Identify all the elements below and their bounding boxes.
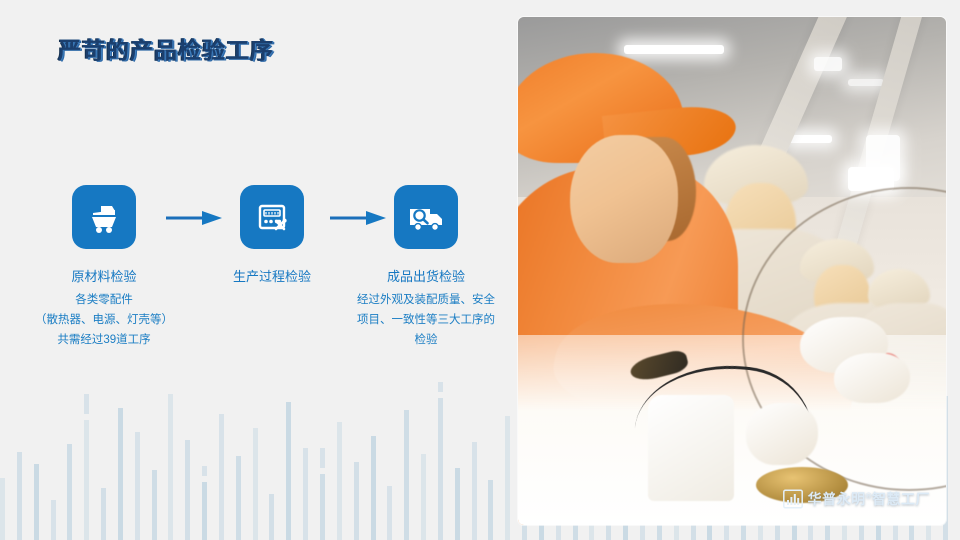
decorative-bar bbox=[67, 444, 72, 540]
page-title: 严苛的产品检验工序 bbox=[58, 31, 274, 65]
factory-photo-scene bbox=[518, 17, 946, 525]
step-body-raw-material: 各类零配件 （散热器、电源、灯壳等） 共需经过39道工序 bbox=[14, 290, 194, 350]
decorative-bar bbox=[101, 488, 106, 540]
step-label-raw-material: 原材料检验 bbox=[56, 266, 152, 285]
gloved-hand bbox=[746, 403, 818, 465]
arrow-right-icon bbox=[330, 211, 386, 225]
decorative-bar bbox=[202, 482, 207, 540]
decorative-bar bbox=[51, 500, 56, 540]
decorative-bar-segment bbox=[202, 466, 207, 476]
decorative-bar bbox=[387, 486, 392, 540]
decorative-bar bbox=[421, 454, 426, 540]
decorative-bar bbox=[34, 464, 39, 540]
material-cart-icon[interactable] bbox=[72, 185, 136, 249]
foreground-worker-face bbox=[570, 135, 678, 263]
watermark-text: 华普永明®智慧工厂 bbox=[808, 489, 930, 509]
process-flow-icons bbox=[0, 185, 500, 257]
step-body-line: 检验 bbox=[331, 330, 521, 350]
decorative-bar bbox=[286, 402, 291, 540]
machine-tools-icon[interactable] bbox=[240, 185, 304, 249]
step-body-line: 经过外观及装配质量、安全 bbox=[331, 290, 521, 310]
brand-watermark: 华普永明®智慧工厂 bbox=[783, 489, 930, 509]
decorative-bar bbox=[17, 452, 22, 540]
decorative-bar bbox=[269, 494, 274, 540]
truck-inspect-icon[interactable] bbox=[394, 185, 458, 249]
decorative-bar bbox=[84, 420, 89, 540]
decorative-bar bbox=[0, 478, 5, 540]
step-body-line: 共需经过39道工序 bbox=[14, 330, 194, 350]
decorative-bar bbox=[303, 448, 308, 540]
decorative-bar bbox=[236, 456, 241, 540]
decorative-bar bbox=[472, 442, 477, 540]
huapu-yongming-logo-icon bbox=[783, 489, 803, 509]
gloved-hand bbox=[834, 353, 910, 403]
process-flow: 原材料检验 生产过程检验 成品出货检验 各类零配件 （散热器、电源、灯壳等） 共… bbox=[0, 185, 500, 257]
watermark-suffix: 智慧工厂 bbox=[872, 491, 930, 507]
step-body-shipment: 经过外观及装配质量、安全 项目、一致性等三大工序的 检验 bbox=[331, 290, 521, 350]
decorative-bar bbox=[118, 408, 123, 540]
decorative-bar bbox=[219, 414, 224, 540]
decorative-bar-segment bbox=[320, 448, 325, 468]
decorative-bar bbox=[135, 432, 140, 540]
slide-canvas: 严苛的产品检验工序 bbox=[0, 0, 960, 540]
ceiling-light-icon bbox=[814, 57, 842, 71]
decorative-bar-segment bbox=[438, 382, 443, 392]
decorative-bar bbox=[505, 416, 510, 540]
decorative-bar bbox=[354, 462, 359, 540]
decorative-bar-segment bbox=[84, 394, 89, 414]
decorative-bar bbox=[488, 480, 493, 540]
ceiling-light-icon bbox=[848, 79, 884, 86]
decorative-bar bbox=[337, 422, 342, 540]
watermark-brand: 华普永明 bbox=[808, 491, 866, 507]
decorative-bar bbox=[253, 428, 258, 540]
ceiling-light-icon bbox=[624, 45, 724, 54]
step-label-production: 生产过程检验 bbox=[222, 266, 322, 285]
step-label-shipment: 成品出货检验 bbox=[376, 266, 476, 285]
decorative-bar bbox=[438, 398, 443, 540]
decorative-bar bbox=[185, 440, 190, 540]
decorative-bar bbox=[152, 470, 157, 540]
decorative-bar bbox=[320, 474, 325, 540]
decorative-bar bbox=[404, 410, 409, 540]
ceiling-light-icon bbox=[866, 135, 900, 181]
decorative-bar bbox=[455, 468, 460, 540]
step-body-line: 项目、一致性等三大工序的 bbox=[331, 310, 521, 330]
step-body-line: （散热器、电源、灯壳等） bbox=[14, 310, 194, 330]
step-body-line: 各类零配件 bbox=[14, 290, 194, 310]
factory-photo: 华普永明®智慧工厂 bbox=[518, 17, 946, 525]
decorative-bar bbox=[168, 394, 173, 540]
arrow-right-icon bbox=[166, 211, 222, 225]
decorative-bar bbox=[371, 436, 376, 540]
